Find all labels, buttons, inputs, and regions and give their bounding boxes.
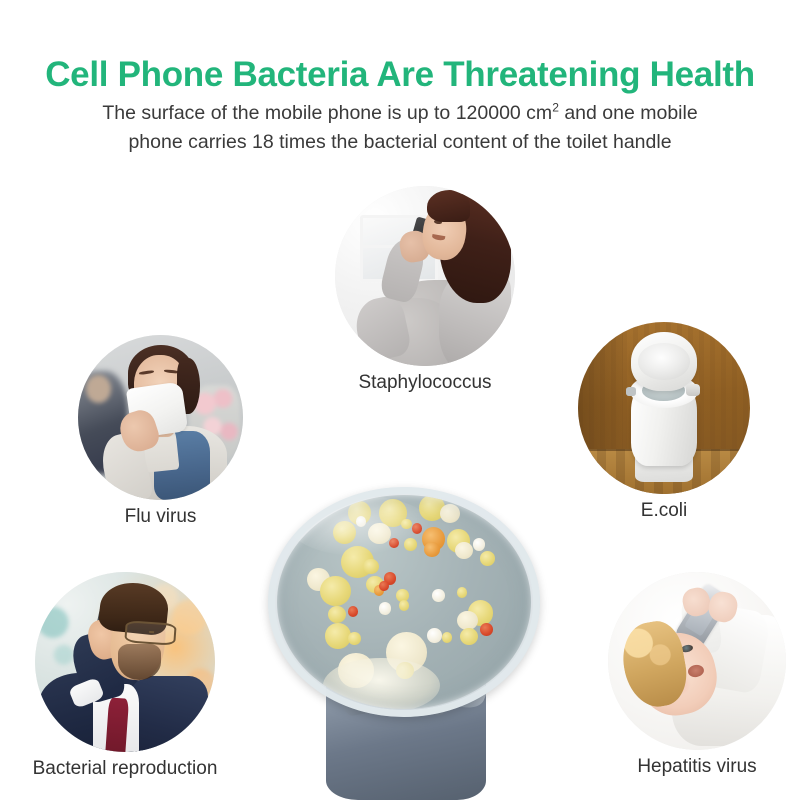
photo-businessman-on-phone <box>35 572 215 752</box>
flush-button-shape <box>626 387 636 396</box>
tile-label-ecoli: E.coli <box>578 500 750 522</box>
eyeglasses-shape <box>124 621 176 646</box>
lid-hinge-shape <box>686 384 700 396</box>
tile-bacterial-reproduction: Bacterial reproduction <box>35 572 215 780</box>
subtitle-superscript: 2 <box>552 101 559 115</box>
lid-highlight <box>638 343 690 381</box>
beard-shape <box>118 644 161 680</box>
tile-hepatitis-virus: Hepatitis virus <box>608 572 786 778</box>
fringe-shape <box>427 190 470 222</box>
subtitle-text-part2: and one mobile <box>559 102 698 124</box>
suit-shoulder-shape <box>129 676 208 752</box>
page-title: Cell Phone Bacteria Are Threatening Heal… <box>0 55 800 95</box>
tile-staphylococcus: Staphylococcus <box>335 186 515 394</box>
page-subtitle: The surface of the mobile phone is up to… <box>90 99 710 157</box>
infographic-page: Cell Phone Bacteria Are Threatening Heal… <box>0 0 800 800</box>
tile-label-flu-virus: Flu virus <box>78 506 243 528</box>
tile-label-staphylococcus: Staphylococcus <box>335 372 515 394</box>
tile-ecoli: E.coli <box>578 322 750 522</box>
subtitle-text-part1: The surface of the mobile phone is up to… <box>102 102 552 124</box>
tile-label-bacterial-reproduction: Bacterial reproduction <box>10 758 240 780</box>
tile-label-hepatitis-virus: Hepatitis virus <box>608 756 786 778</box>
dish-rim <box>268 487 540 717</box>
photo-toddler-with-phone <box>608 572 786 750</box>
background-head <box>86 375 111 403</box>
necktie-shape <box>105 697 129 752</box>
photo-woman-sneezing <box>78 335 243 500</box>
tile-flu-virus: Flu virus <box>78 335 243 528</box>
petri-dish-illustration <box>268 487 540 800</box>
photo-toilet <box>578 322 750 494</box>
petri-dish <box>268 487 540 717</box>
subtitle-line-2: phone carries 18 times the bacterial con… <box>128 131 671 153</box>
photo-pregnant-woman-on-phone <box>335 186 515 366</box>
